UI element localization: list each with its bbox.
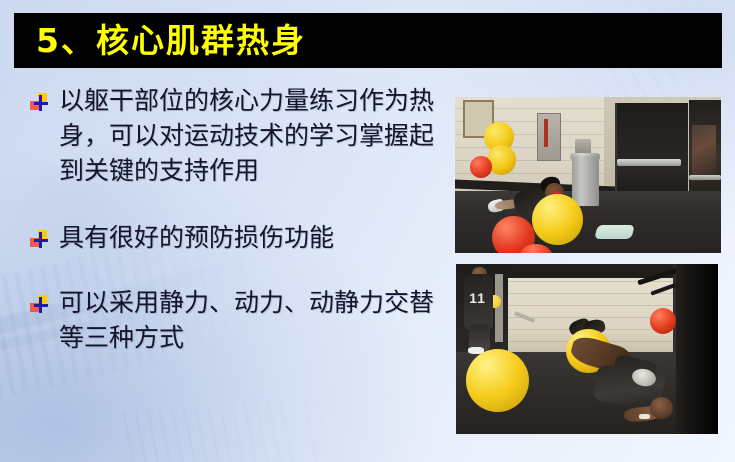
title-banner: 5、核心肌群热身 — [14, 13, 722, 68]
list-item: 以躯干部位的核心力量练习作为热身，可以对运动技术的学习掌握起到关键的支持作用 — [30, 84, 440, 189]
multicolor-cross-bullet-icon — [30, 93, 49, 112]
floor-legs-ball-photo: 11 — [456, 264, 718, 434]
list-item: 具有很好的预防损伤功能 — [30, 221, 440, 256]
bullet-list: 以躯干部位的核心力量练习作为热身，可以对运动技术的学习掌握起到关键的支持作用 具… — [30, 84, 440, 356]
wall-panel — [537, 113, 560, 162]
page-title: 5、核心肌群热身 — [36, 15, 306, 67]
slide-canvas: 5、核心肌群热身 以躯干部位的核心力量练习作为热身，可以对运动技术的学习掌握起到… — [0, 0, 735, 462]
red-exercise-ball — [650, 308, 676, 334]
yellow-exercise-ball — [466, 349, 529, 412]
jersey-number: 11 — [469, 291, 486, 305]
red-exercise-ball — [470, 156, 493, 178]
background-bottom-decoration — [118, 387, 423, 462]
bullet-text-3: 可以采用静力、动力、动静力交替等三种方式 — [59, 286, 440, 356]
multicolor-cross-bullet-icon — [30, 295, 49, 314]
floor-mat — [594, 225, 635, 239]
multicolor-cross-bullet-icon — [30, 230, 49, 249]
list-item: 可以采用静力、动力、动静力交替等三种方式 — [30, 286, 440, 356]
yellow-exercise-ball — [532, 194, 583, 245]
bullet-text-1: 以躯干部位的核心力量练习作为热身，可以对运动技术的学习掌握起到关键的支持作用 — [59, 84, 440, 189]
trash-can — [572, 156, 599, 206]
bullet-text-2: 具有很好的预防损伤功能 — [59, 221, 334, 256]
gym-wall-ball-photo — [455, 97, 721, 253]
